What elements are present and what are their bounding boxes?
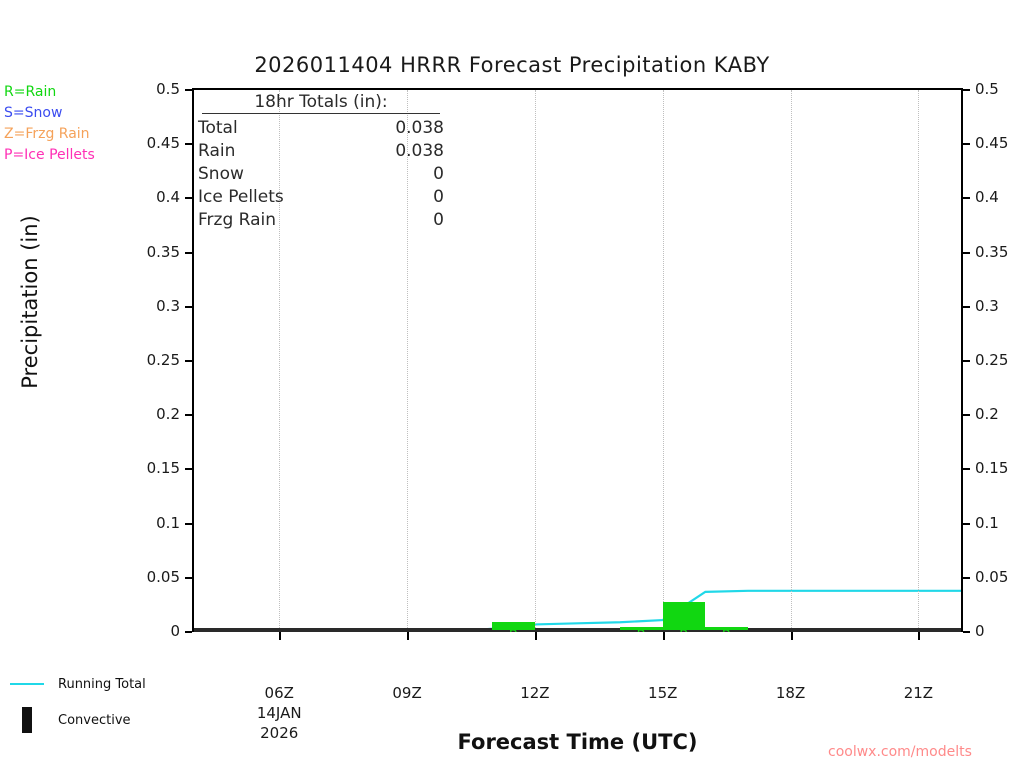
x-tick — [918, 632, 920, 640]
y-tick-label-left: 0.4 — [100, 188, 180, 206]
legend-item-convective: Convective — [10, 702, 146, 738]
y-tick-right — [963, 252, 970, 254]
y-tick-label-right: 0.5 — [975, 80, 999, 98]
y-tick-label-right: 0.05 — [975, 568, 1008, 586]
totals-row-label: Total — [198, 117, 238, 140]
totals-row-label: Frzg Rain — [198, 209, 276, 232]
y-tick-left — [185, 414, 192, 416]
y-tick-label-left: 0.05 — [100, 568, 180, 586]
ptype-marker: R — [637, 628, 647, 632]
y-tick-left — [185, 577, 192, 579]
x-tick — [663, 632, 665, 640]
y-tick-left — [185, 468, 192, 470]
page-title: 2026011404 HRRR Forecast Precipitation K… — [0, 53, 1024, 77]
y-tick-label-left: 0.3 — [100, 297, 180, 315]
legend-item-running-total: Running Total — [10, 666, 146, 702]
vertical-gridline — [791, 90, 793, 632]
y-tick-right — [963, 306, 970, 308]
y-tick-label-left: 0.15 — [100, 459, 180, 477]
totals-rows: Total0.038Rain0.038Snow0Ice Pellets0Frzg… — [196, 117, 446, 232]
y-tick-label-right: 0.45 — [975, 134, 1008, 152]
y-tick-label-left: 0 — [100, 622, 180, 640]
running-total-line-icon — [10, 683, 44, 685]
x-tick-label: 15Z — [613, 684, 713, 702]
vertical-gridline — [918, 90, 920, 632]
x-tick — [407, 632, 409, 640]
y-tick-right — [963, 631, 970, 633]
y-tick-right — [963, 468, 970, 470]
y-tick-left — [185, 631, 192, 633]
x-tick-label: 06Z — [229, 684, 329, 702]
y-tick-label-right: 0.2 — [975, 405, 999, 423]
y-tick-label-right: 0.4 — [975, 188, 999, 206]
ptype-marker: R — [722, 628, 732, 632]
totals-row-label: Ice Pellets — [198, 186, 284, 209]
y-tick-right — [963, 414, 970, 416]
totals-row-value: 0 — [433, 163, 444, 186]
precip-bar — [663, 602, 706, 630]
totals-row: Rain0.038 — [196, 140, 446, 163]
y-tick-label-right: 0.3 — [975, 297, 999, 315]
y-tick-label-left: 0.45 — [100, 134, 180, 152]
x-tick — [791, 632, 793, 640]
y-tick-label-left: 0.1 — [100, 514, 180, 532]
totals-row: Total0.038 — [196, 117, 446, 140]
y-tick-left — [185, 89, 192, 91]
convective-baseline — [194, 628, 961, 632]
legend-label-running-total: Running Total — [58, 677, 146, 692]
x-axis-date-line1: 14JAN — [229, 704, 329, 722]
legend-label-convective: Convective — [58, 713, 131, 728]
y-tick-left — [185, 523, 192, 525]
y-tick-label-right: 0.1 — [975, 514, 999, 532]
totals-row-value: 0.038 — [395, 117, 444, 140]
convective-bar-icon — [22, 707, 32, 733]
totals-row-value: 0.038 — [395, 140, 444, 163]
y-tick-label-left: 0.35 — [100, 243, 180, 261]
totals-row: Snow0 — [196, 163, 446, 186]
y-tick-right — [963, 360, 970, 362]
y-tick-right — [963, 523, 970, 525]
totals-box: 18hr Totals (in): Total0.038Rain0.038Sno… — [196, 92, 446, 232]
y-tick-left — [185, 197, 192, 199]
x-tick — [535, 632, 537, 640]
totals-row: Ice Pellets0 — [196, 186, 446, 209]
y-tick-label-left: 0.5 — [100, 80, 180, 98]
vertical-gridline — [663, 90, 665, 632]
y-tick-label-right: 0 — [975, 622, 985, 640]
y-tick-left — [185, 360, 192, 362]
totals-row-value: 0 — [433, 209, 444, 232]
running-total-polyline — [194, 591, 961, 632]
y-tick-right — [963, 577, 970, 579]
y-tick-left — [185, 143, 192, 145]
y-tick-label-left: 0.25 — [100, 351, 180, 369]
series-legend: Running Total Convective — [10, 666, 146, 738]
y-tick-right — [963, 143, 970, 145]
x-tick-label: 12Z — [485, 684, 585, 702]
y-tick-left — [185, 306, 192, 308]
totals-heading: 18hr Totals (in): — [202, 92, 440, 114]
y-tick-label-right: 0.25 — [975, 351, 1008, 369]
y-tick-label-right: 0.15 — [975, 459, 1008, 477]
watermark: coolwx.com/modelts — [828, 744, 972, 760]
y-tick-label-right: 0.35 — [975, 243, 1008, 261]
x-tick-label: 18Z — [741, 684, 841, 702]
ptype-legend-item-0: R=Rain — [4, 82, 95, 103]
y-tick-right — [963, 89, 970, 91]
ptype-marker: R — [509, 628, 519, 632]
totals-row: Frzg Rain0 — [196, 209, 446, 232]
y-tick-label-left: 0.2 — [100, 405, 180, 423]
y-tick-left — [185, 252, 192, 254]
y-axis-title: Precipitation (in) — [18, 142, 42, 462]
ptype-marker: R — [679, 628, 689, 632]
ptype-legend-item-1: S=Snow — [4, 103, 95, 124]
totals-row-label: Rain — [198, 140, 235, 163]
x-tick-label: 21Z — [868, 684, 968, 702]
totals-row-label: Snow — [198, 163, 244, 186]
totals-row-value: 0 — [433, 186, 444, 209]
x-tick — [279, 632, 281, 640]
vertical-gridline — [535, 90, 537, 632]
y-tick-right — [963, 197, 970, 199]
x-tick-label: 09Z — [357, 684, 457, 702]
